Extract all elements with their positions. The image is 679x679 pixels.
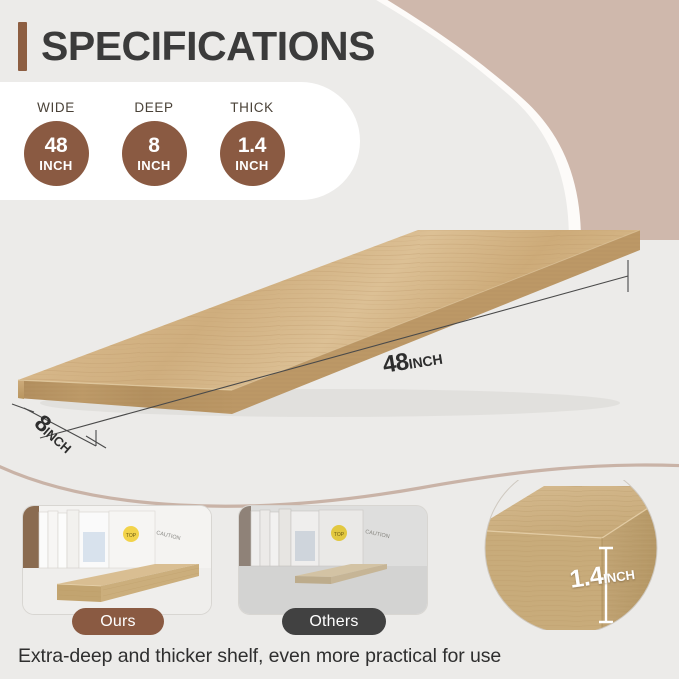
spec-label-thick: THICK [230,100,274,115]
dimension-thickness-unit: INCH [602,567,636,586]
spec-item-wide: WIDE 48 INCH [18,100,94,186]
svg-text:TOP: TOP [126,533,137,539]
thickness-closeup [482,480,660,630]
spec-unit-wide: INCH [39,159,72,172]
product-stage [0,198,679,473]
spec-unit-thick: INCH [235,159,268,172]
comparison-photo-others: TOP CAUTION [238,505,428,615]
badge-others: Others [282,608,386,635]
spec-value-deep: 8 [148,135,159,156]
spec-label-wide: WIDE [37,100,75,115]
page-header: SPECIFICATIONS [18,22,375,71]
dimension-length-unit: INCH [407,351,443,372]
bottom-caption: Extra-deep and thicker shelf, even more … [18,645,501,668]
badge-ours-label: Ours [100,613,135,631]
spec-value-wide: 48 [45,135,68,156]
specifications-infographic: SPECIFICATIONS WIDE 48 INCH DEEP 8 INCH … [0,0,679,679]
comparison-photo-ours: TOP CAUTION [22,505,212,615]
badge-ours: Ours [72,608,164,635]
title-accent-bar [18,22,27,71]
spec-circle-thick: 1.4 INCH [220,121,285,186]
badge-others-label: Others [309,613,358,631]
spec-unit-deep: INCH [137,159,170,172]
dimension-thickness-value: 1.4 [568,562,605,594]
spec-panel: WIDE 48 INCH DEEP 8 INCH THICK 1.4 INCH [0,82,360,200]
spec-item-deep: DEEP 8 INCH [116,100,192,186]
spec-value-thick: 1.4 [238,135,266,156]
spec-circle-wide: 48 INCH [24,121,89,186]
spec-label-deep: DEEP [134,100,173,115]
spec-item-thick: THICK 1.4 INCH [214,100,290,186]
dimension-length-value: 48 [381,348,411,379]
spec-circle-deep: 8 INCH [122,121,187,186]
svg-text:TOP: TOP [334,532,345,538]
page-title: SPECIFICATIONS [41,26,375,67]
